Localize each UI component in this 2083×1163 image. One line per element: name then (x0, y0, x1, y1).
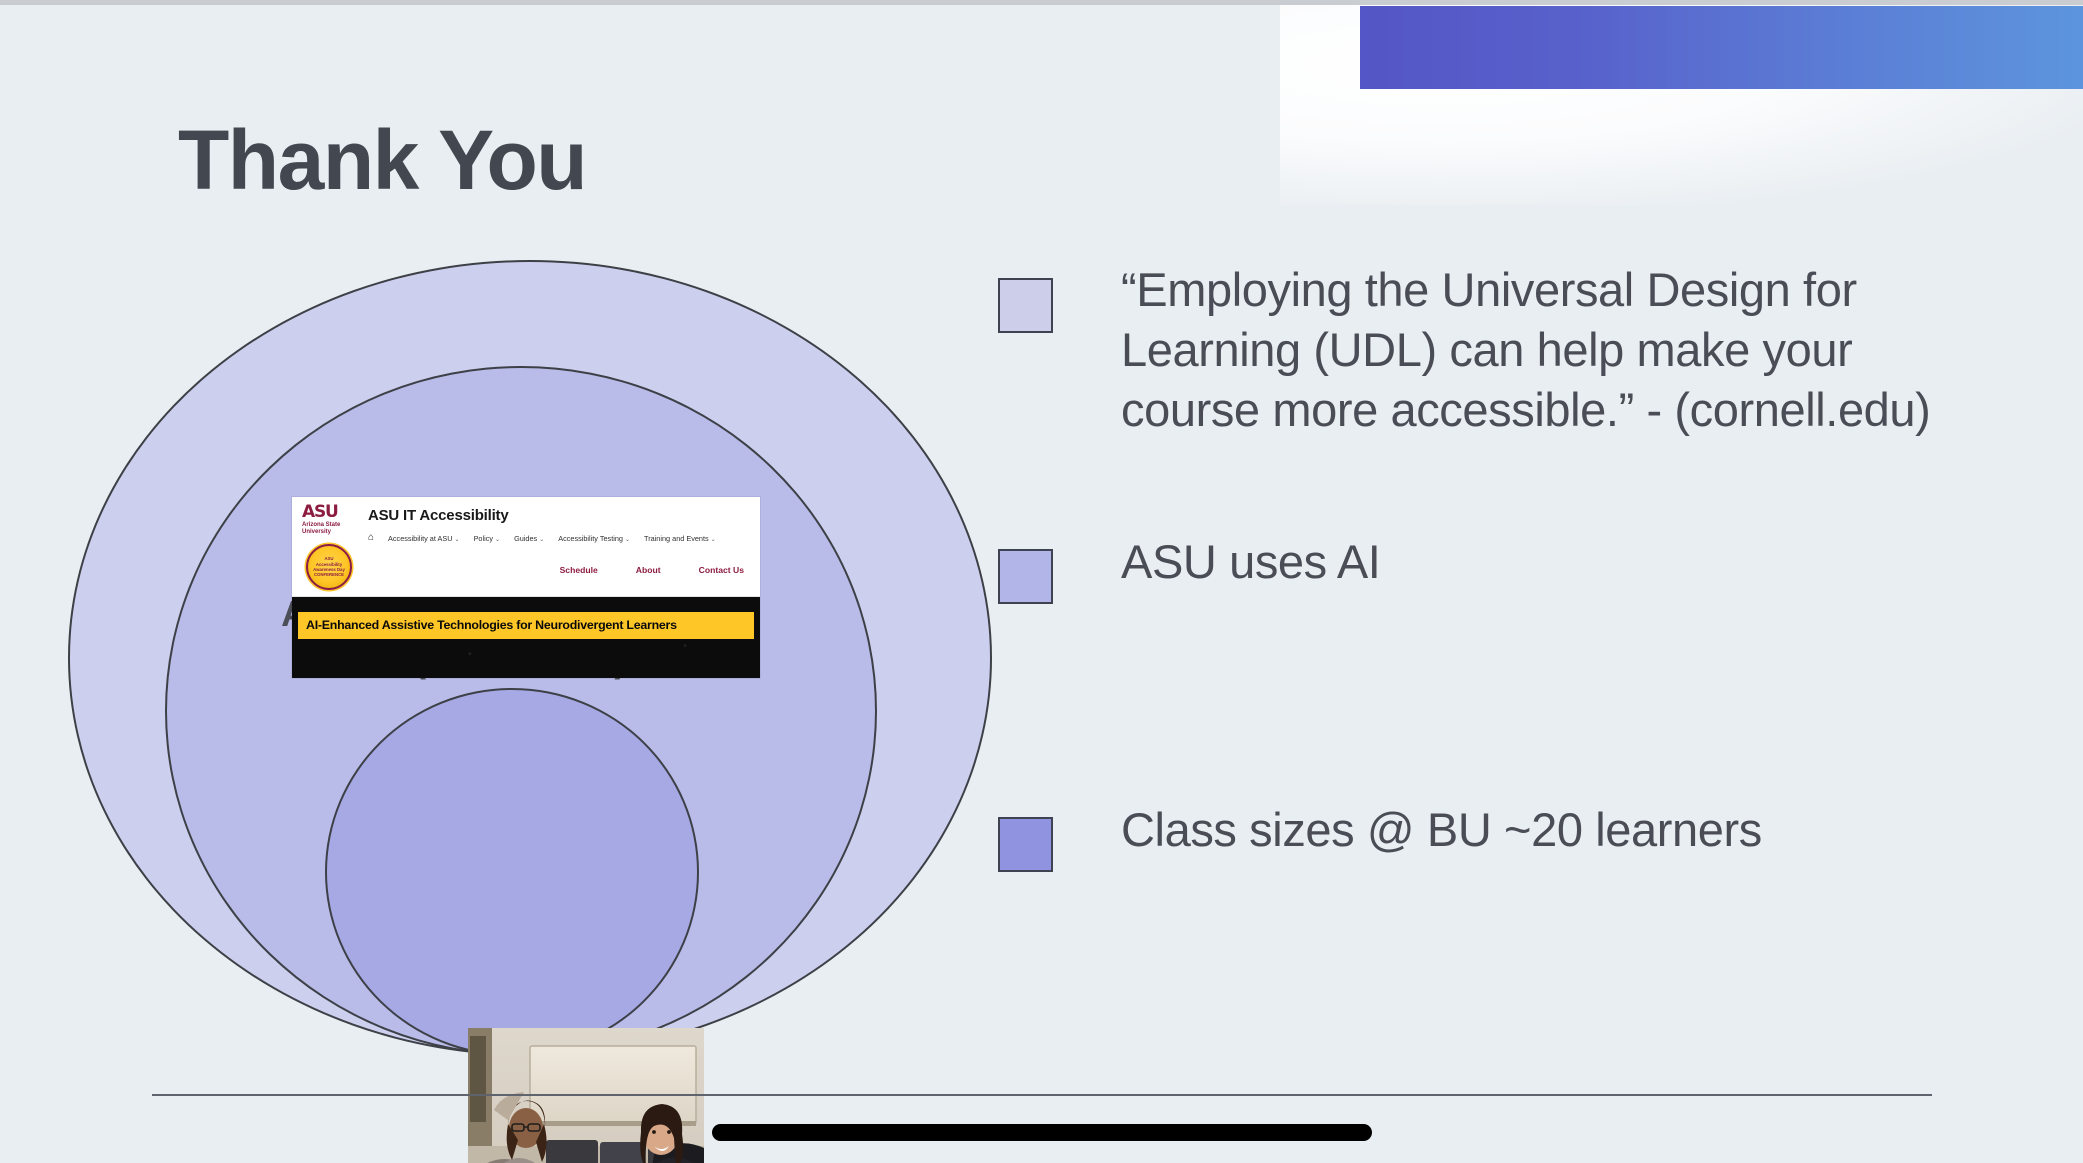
nav-label: Policy (474, 534, 493, 543)
asu-link-schedule[interactable]: Schedule (560, 565, 598, 575)
asu-logo: ASU Arizona State University (302, 504, 358, 536)
nav-label: Accessibility Testing (558, 534, 623, 543)
bullet-swatch-3 (998, 817, 1053, 872)
top-edge-strip (0, 0, 2083, 5)
inner-ring (325, 688, 699, 1056)
footer-divider (152, 1094, 1932, 1096)
asu-site-header: ASU Arizona State University ASU Accessi… (292, 497, 760, 597)
bullet-item-1: “Employing the Universal Design for Lear… (998, 260, 1931, 440)
page-title: Thank You (178, 118, 586, 202)
asu-nav-item-guides[interactable]: Guides⌄ (514, 534, 544, 543)
asu-website-screenshot: ASU Arizona State University ASU Accessi… (292, 497, 760, 678)
chevron-down-icon: ⌄ (539, 537, 544, 543)
chevron-down-icon: ⌄ (711, 537, 716, 543)
concentric-circles-diagram: AI in upper-echelon learning (cornell.ed… (60, 258, 1020, 1058)
asu-logo-subtitle: Arizona State University (302, 522, 358, 536)
bullet-swatch-1 (998, 278, 1053, 333)
gradient-accent-bar (1360, 6, 2083, 89)
bullet-item-3: Class sizes @ BU ~20 learners (998, 800, 1921, 872)
home-icon[interactable]: ⌂ (368, 533, 374, 543)
home-indicator-bar[interactable] (712, 1124, 1372, 1141)
asu-hero-banner-title: AI-Enhanced Assistive Technologies for N… (298, 612, 754, 639)
asu-logo-mark: ASU (302, 504, 358, 521)
bullet-text-3: Class sizes @ BU ~20 learners (1121, 800, 1921, 860)
nav-label: Training and Events (644, 534, 709, 543)
chevron-down-icon: ⌄ (625, 537, 630, 543)
chevron-down-icon: ⌄ (455, 537, 460, 543)
nav-label: Guides (514, 534, 537, 543)
bullet-text-2: ASU uses AI (1121, 532, 1921, 592)
bullet-item-2: ASU uses AI (998, 532, 1921, 604)
asu-nav-item-accessibility-testing[interactable]: Accessibility Testing⌄ (558, 534, 630, 543)
chevron-down-icon: ⌄ (495, 537, 500, 543)
asu-nav-item-training-and-events[interactable]: Training and Events⌄ (644, 534, 716, 543)
bullet-text-1: “Employing the Universal Design for Lear… (1121, 260, 1931, 440)
asu-hero-section: AI-Enhanced Assistive Technologies for N… (292, 597, 760, 678)
asu-nav-item-accessibility-at-asu[interactable]: Accessibility at ASU⌄ (388, 534, 460, 543)
asu-nav-item-policy[interactable]: Policy⌄ (474, 534, 501, 543)
bullet-swatch-2 (998, 549, 1053, 604)
nav-label: Accessibility at ASU (388, 534, 452, 543)
slide-canvas: Thank You AI in upper-echelon learning (… (0, 0, 2083, 1163)
asu-primary-nav: ⌂ Accessibility at ASU⌄ Policy⌄ Guides⌄ … (368, 533, 716, 543)
asu-conference-badge-icon: ASU Accessibility Awareness Day CONFEREN… (306, 544, 352, 590)
asu-link-about[interactable]: About (636, 565, 661, 575)
asu-quick-links: Schedule About Contact Us (560, 565, 744, 575)
asu-site-title: ASU IT Accessibility (368, 507, 509, 524)
asu-link-contact-us[interactable]: Contact Us (699, 565, 744, 575)
